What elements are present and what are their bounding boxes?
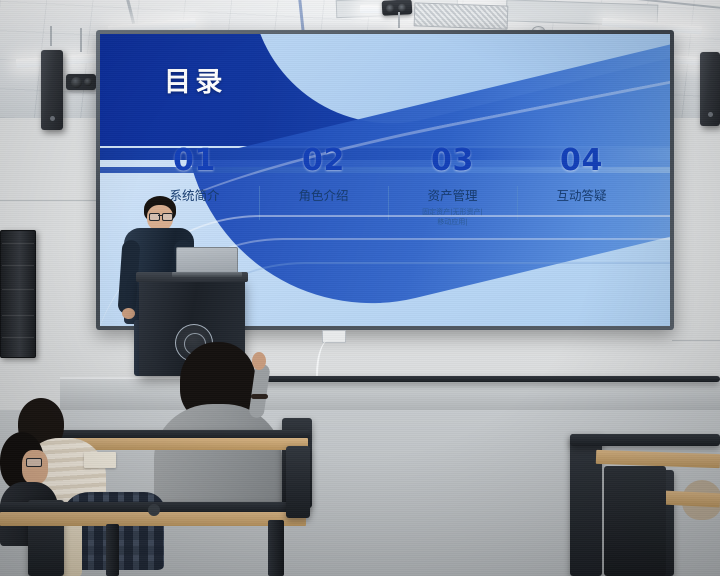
audience-grey-wristband: [251, 394, 268, 399]
presenter-glasses-bridge-icon: [158, 215, 162, 216]
speaker-hanger-rod-left: [50, 26, 52, 46]
toc-label-2: 角色介绍: [298, 189, 348, 203]
lecture-desk-row3-right-rail: [570, 434, 720, 446]
stage-rail: [236, 376, 720, 382]
toc-number-3: 03: [431, 146, 474, 176]
toc-number-4: 04: [560, 146, 603, 176]
audience-person-right: [682, 480, 720, 540]
wall-speaker-right: [700, 52, 720, 126]
toc-label-3: 资产管理: [427, 189, 477, 203]
rack-slot-5: [2, 337, 33, 338]
lecture-desk-row3-leg-2: [268, 520, 284, 576]
slide-title: 目录: [164, 60, 227, 99]
audience-glasses-lens-icon: [26, 458, 42, 467]
projector-mount-rod: [398, 12, 400, 28]
lecture-desk-row3-leg-1: [106, 524, 119, 576]
classroom-presentation-scene: 目录 01 系统简介 02 角色介绍 03 资产管: [0, 0, 720, 576]
lecture-desk-knob-1: [148, 504, 160, 516]
audience-grey-hand: [252, 352, 266, 370]
projector-lens-icon-2: [398, 4, 406, 12]
lecture-desk-row4-right-top: [664, 491, 720, 508]
wall-speaker-left: [41, 50, 63, 130]
toc-number-2: 02: [302, 146, 345, 176]
presenter-laptop-base: [172, 272, 242, 277]
toc-number-1: 01: [173, 146, 216, 176]
projector-lens-icon: [386, 4, 394, 12]
ceiling-projector: [382, 0, 413, 16]
notebook-on-desk[interactable]: [84, 452, 116, 468]
wall-seam-upper: [0, 200, 98, 201]
ceiling-camera: [66, 74, 96, 90]
toc-label-4: 互动答疑: [556, 189, 606, 203]
presenter-glasses-right-lens-icon: [162, 213, 173, 221]
camera-lens-icon-2: [84, 78, 92, 86]
seat-back-right: [604, 466, 666, 576]
lecture-desk-row2-right-frame: [286, 446, 310, 518]
wall-seam-right: [672, 340, 720, 341]
rack-slot-2: [2, 265, 33, 266]
rack-slot-3: [2, 289, 33, 290]
camera-mount-rod: [80, 28, 82, 52]
toc-item-4: 04 互动答疑: [517, 146, 646, 207]
camera-lens-icon: [71, 77, 82, 88]
rack-slot-1: [2, 243, 33, 244]
equipment-rack: [0, 230, 36, 358]
rack-slot-4: [2, 315, 33, 316]
toc-item-2: 02 角色介绍: [259, 146, 388, 207]
presenter-hand: [122, 308, 135, 319]
audience-glasses-face: [22, 450, 48, 484]
air-vent-grille: [414, 2, 509, 29]
